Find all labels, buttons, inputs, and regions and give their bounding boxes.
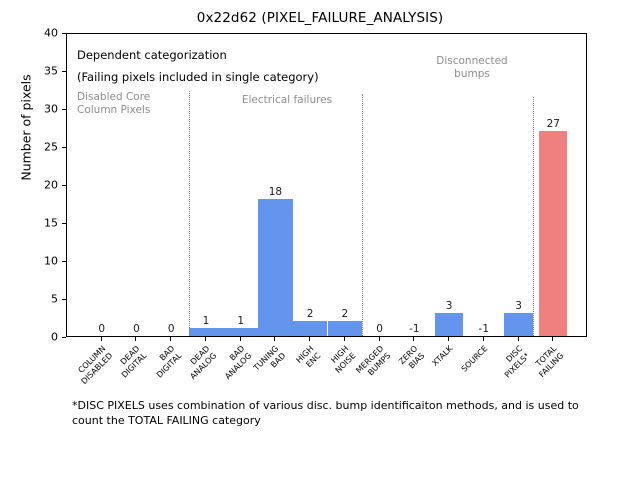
bar-value-label: 27 [547,118,560,130]
bar [328,321,363,336]
x-tick-mark [135,337,136,341]
y-tick-label: 0 [18,331,58,344]
bar-value-label: 3 [515,300,522,312]
bar-value-label: -1 [479,323,489,335]
x-tick-mark [518,337,519,341]
bar [504,313,532,336]
bar [258,199,293,336]
bar-value-label: 0 [376,323,383,335]
chart-footnote: *DISC PIXELS uses combination of various… [72,398,582,428]
x-tick-mark [170,337,171,341]
plot-area: 0001118220-13-1327 Dependent categorizat… [66,33,587,337]
y-axis-label: Number of pixels [19,18,34,238]
y-tick-label: 20 [18,179,58,192]
y-tick-label: 40 [18,27,58,40]
x-tick-mark [413,337,414,341]
chart-title: 0x22d62 (PIXEL_FAILURE_ANALYSIS) [0,10,640,26]
x-tick-mark [240,337,241,341]
y-tick-label: 5 [18,293,58,306]
bar-value-label: 18 [269,186,282,198]
annotation-single-category-note: (Failing pixels included in single categ… [77,70,319,84]
x-tick-mark [483,337,484,341]
bar [293,321,328,336]
annotation-disabled-core-group: Disabled Core Column Pixels [77,91,150,117]
group-divider [189,91,190,337]
x-tick-mark [552,337,553,341]
group-divider [533,97,534,337]
x-tick-mark [344,337,345,341]
y-tick-label: 15 [18,217,58,230]
annotation-dependent-categorization: Dependent categorization [77,48,227,62]
x-tick-mark [205,337,206,341]
bar [539,131,567,336]
x-tick-mark [379,337,380,341]
bar-value-label: 0 [133,323,140,335]
x-tick-mark [309,337,310,341]
y-tick-mark [62,337,66,338]
y-tick-label: 25 [18,141,58,154]
bar [223,328,258,336]
x-tick-mark [274,337,275,341]
y-tick-label: 30 [18,103,58,116]
annotation-disconnected-bumps-group: Disconnected bumps [436,55,507,81]
bar-value-label: -1 [409,323,419,335]
annotation-electrical-failures-group: Electrical failures [242,94,332,107]
bar-value-label: 1 [203,315,210,327]
x-tick-mark [448,337,449,341]
bar-value-label: 1 [237,315,244,327]
y-tick-label: 35 [18,65,58,78]
x-tick-mark [101,337,102,341]
group-divider [362,94,363,337]
bar-value-label: 3 [446,300,453,312]
bar-value-label: 0 [168,323,175,335]
y-tick-label: 10 [18,255,58,268]
bar-value-label: 0 [98,323,105,335]
figure-canvas: 0x22d62 (PIXEL_FAILURE_ANALYSIS) Number … [0,0,640,480]
bar [189,328,224,336]
bar [435,313,463,336]
bar-value-label: 2 [342,308,349,320]
bar-value-label: 2 [307,308,314,320]
